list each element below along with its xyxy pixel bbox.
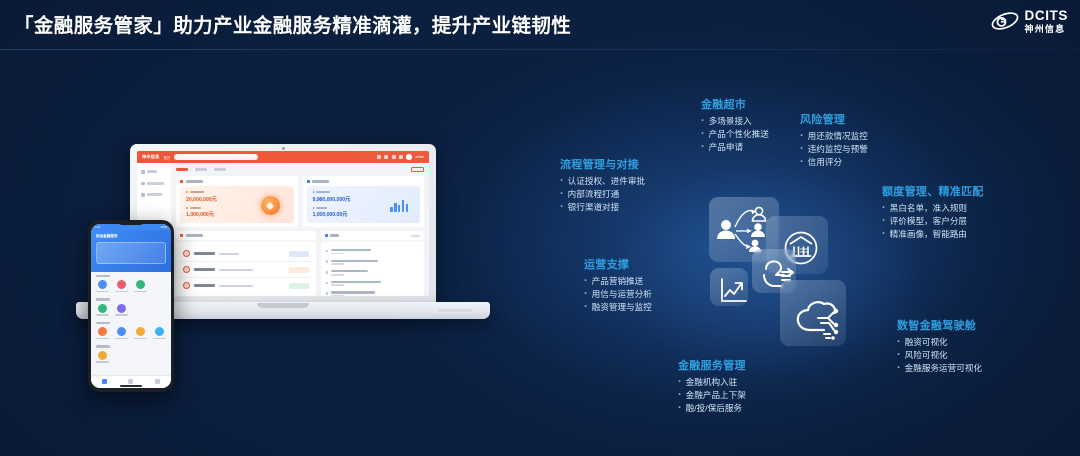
sidebar-item-2[interactable]	[141, 182, 167, 186]
phone-section-3	[91, 319, 171, 342]
callout-item: 精准画像，智能路由	[882, 228, 984, 241]
logo-text-group: DCITS 神州信息	[1025, 9, 1069, 34]
task-list-wrap	[176, 231, 316, 296]
stat-orange-panel: 20,000,000元 1,000,000元	[180, 186, 294, 223]
phone-app-label	[134, 338, 147, 340]
callout-title: 流程管理与对接	[560, 156, 645, 172]
bullet-dot	[186, 207, 188, 209]
news-header	[321, 231, 424, 240]
phone-app-item[interactable]	[115, 304, 128, 316]
phone-app-item[interactable]	[115, 327, 128, 339]
logo-chinese: 神州信息	[1025, 25, 1069, 34]
news-marker	[325, 234, 328, 237]
stat-card-row: 20,000,000元 1,000,000元	[176, 176, 424, 227]
callout-item: 用还款情况监控	[800, 130, 868, 143]
news-date	[331, 253, 344, 255]
callout-item: 金融服务运营可视化	[897, 362, 982, 375]
phone-app-icon	[117, 304, 126, 313]
callout-risk: 风险管理 用还款情况监控 违约监控与预警 信用评分	[800, 111, 868, 169]
tile-cloud-tech	[780, 280, 846, 346]
phone-hero-card[interactable]	[96, 242, 166, 264]
dashboard-search-input[interactable]	[174, 154, 258, 161]
news-feed-wrap	[321, 231, 424, 296]
news-item[interactable]	[326, 246, 419, 257]
task-row[interactable]	[180, 262, 312, 278]
phone-app-icon	[98, 351, 107, 360]
task-action-button[interactable]	[289, 283, 309, 289]
task-row[interactable]	[180, 278, 312, 293]
news-bullet	[326, 282, 329, 285]
callout-item: 信用评分	[800, 156, 868, 169]
sidebar-label-2	[147, 182, 164, 185]
callout-item: 用信与运营分析	[584, 288, 652, 301]
sidebar-label-1	[147, 170, 157, 173]
dcits-swoosh-icon	[990, 10, 1020, 32]
callout-operations: 运营支撑 产品营销推送 用信与运营分析 融资管理与监控	[584, 256, 652, 314]
sidebar-item-1[interactable]	[141, 170, 167, 174]
callout-title: 额度管理、精准匹配	[882, 183, 984, 199]
phone-app-item[interactable]	[96, 304, 109, 316]
phone-icon-grid-2	[96, 304, 166, 316]
task-action-button[interactable]	[289, 251, 309, 257]
callout-item: 认证授权、进件审批	[560, 175, 645, 188]
callout-item: 金融产品上下架	[678, 389, 746, 402]
phone-app-label	[134, 291, 147, 293]
growth-chart-icon	[715, 273, 753, 311]
news-date	[331, 284, 344, 286]
dashboard-nav: 首页	[164, 155, 171, 160]
bullet-dot	[186, 191, 188, 193]
icon-cluster	[700, 192, 850, 362]
phone-app-item[interactable]	[153, 327, 166, 339]
phone-app-item[interactable]	[115, 280, 128, 292]
phone-mockup: 9:41 100% 综合金融服务	[88, 220, 174, 392]
callout-title: 金融超市	[701, 96, 769, 112]
stat-card-orange-header	[180, 180, 294, 183]
page-title: 「金融服务管家」助力产业金融服务精准滴灌，提升产业链韧性	[14, 9, 571, 38]
bar-chart-decoration	[390, 198, 408, 212]
laptop-foot-right	[438, 309, 472, 312]
phone-app-item[interactable]	[96, 327, 109, 339]
news-text	[331, 291, 375, 293]
news-bullet	[326, 271, 329, 274]
task-list	[176, 242, 316, 296]
phone-icon-grid-3	[96, 327, 166, 339]
news-item[interactable]	[326, 289, 419, 296]
phone-app-item[interactable]	[96, 351, 109, 363]
dashboard-main: 20,000,000元 1,000,000元	[171, 163, 429, 296]
phone-app-label	[96, 338, 109, 340]
dashboard-body: 20,000,000元 1,000,000元	[137, 163, 429, 296]
phone-app-icon	[98, 304, 107, 313]
task-action-button[interactable]	[289, 267, 309, 273]
news-text	[331, 281, 381, 283]
dashboard-icon-4[interactable]	[399, 155, 403, 159]
callout-item: 评价模型，客户分层	[882, 215, 984, 228]
sidebar-item-3[interactable]	[141, 193, 167, 197]
task-row[interactable]	[180, 246, 312, 262]
task-list-header	[176, 231, 316, 240]
phone-app-icon	[98, 280, 107, 289]
stat-blue-marker	[307, 180, 310, 183]
bullet-dot	[313, 191, 315, 193]
news-text	[331, 270, 368, 272]
header-bar: 「金融服务管家」助力产业金融服务精准滴灌，提升产业链韧性 DCITS 神州信息	[0, 0, 1080, 49]
task-desc	[219, 253, 239, 255]
phone-app-item[interactable]	[134, 327, 147, 339]
dashboard-topbar-actions: admin	[377, 154, 424, 160]
dashboard-avatar[interactable]	[406, 154, 412, 160]
phone-section-1	[91, 272, 171, 295]
callout-item: 多场景接入	[701, 115, 769, 128]
phone-section-title-4	[96, 345, 110, 347]
dashboard-icon-1[interactable]	[377, 155, 381, 159]
phone-tab-home[interactable]	[102, 379, 107, 384]
phone-app-icon	[155, 327, 164, 336]
tile-growth-chart	[710, 268, 748, 306]
phone-app-label	[115, 314, 128, 316]
task-title	[186, 234, 203, 237]
stat-orange-marker	[180, 180, 183, 183]
laptop-screen: 神州信息 首页 admin	[137, 151, 429, 296]
phone-tab-service[interactable]	[128, 379, 133, 384]
callout-quota: 额度管理、精准匹配 黑白名单，准入规则 评价模型，客户分层 精准画像，智能路由	[882, 183, 984, 241]
tab-third[interactable]	[214, 168, 226, 171]
news-bullet	[326, 250, 329, 253]
phone-clock: 9:41	[95, 226, 100, 229]
callout-item: 违约监控与预警	[800, 143, 868, 156]
brand-logo: DCITS 神州信息	[990, 9, 1069, 34]
header-divider	[0, 49, 1080, 50]
phone-section-4	[91, 342, 171, 365]
stat-blue-label-1	[313, 191, 415, 193]
callout-item: 产品营销推送	[584, 275, 652, 288]
phone-app-label	[96, 291, 109, 293]
callout-item: 产品申请	[701, 141, 769, 154]
phone-section-title-3	[96, 322, 110, 324]
lower-panels	[176, 231, 424, 296]
task-header-inner	[180, 234, 312, 237]
sidebar-icon-3	[141, 193, 145, 197]
label-text	[190, 191, 204, 193]
phone-hero-title: 综合金融服务	[96, 234, 166, 239]
phone-battery: 100%	[160, 226, 167, 229]
task-marker	[180, 234, 183, 237]
news-item[interactable]	[326, 257, 419, 268]
stat-orange-label-1	[186, 191, 288, 193]
callout-item: 黑白名单，准入规则	[882, 202, 984, 215]
callout-item: 产品个性化推送	[701, 128, 769, 141]
callout-item: 金融机构入驻	[678, 376, 746, 389]
phone-section-title-2	[96, 298, 110, 300]
news-date	[331, 295, 344, 296]
phone-app-icon	[136, 280, 145, 289]
laptop-camera	[282, 147, 285, 150]
bullet-dot	[313, 207, 315, 209]
tab-overview[interactable]	[176, 168, 188, 171]
news-item[interactable]	[326, 268, 419, 279]
callout-supermarket: 金融超市 多场景接入 产品个性化推送 产品申请	[701, 96, 769, 154]
label-text	[190, 207, 201, 209]
phone-app-icon	[117, 280, 126, 289]
news-title	[330, 234, 339, 237]
stat-card-blue: 9,980,000,000元 1,000,000.00元	[303, 176, 425, 227]
phone-icon-grid-1	[96, 280, 166, 292]
phone-section-title-1	[96, 275, 110, 277]
task-status-icon	[183, 250, 190, 257]
dashboard-icon-2[interactable]	[384, 155, 388, 159]
dashboard-tabs	[176, 167, 424, 172]
news-more-link[interactable]	[411, 235, 420, 237]
dashboard-topbar: 神州信息 首页 admin	[137, 151, 429, 163]
task-name	[194, 284, 215, 287]
logo-english: DCITS	[1025, 9, 1069, 23]
news-item[interactable]	[326, 278, 419, 289]
phone-app-icon	[98, 327, 107, 336]
news-date	[331, 274, 344, 276]
dashboard-action-button[interactable]	[411, 167, 424, 172]
callout-title: 数智金融驾驶舱	[897, 317, 982, 333]
news-bullet	[326, 260, 329, 263]
phone-app-label	[96, 361, 109, 363]
phone-notch	[117, 220, 145, 225]
phone-hero-banner: 综合金融服务	[91, 230, 171, 272]
news-date	[331, 263, 344, 265]
task-name	[194, 252, 215, 255]
task-desc	[219, 285, 253, 287]
callout-title: 金融服务管理	[678, 357, 746, 373]
callout-item: 银行渠道对接	[560, 201, 645, 214]
news-bullet	[326, 292, 329, 295]
dashboard-brand: 神州信息	[142, 154, 160, 160]
dashboard-username: admin	[415, 155, 424, 159]
phone-app-icon	[117, 327, 126, 336]
phone-app-item[interactable]	[134, 280, 147, 292]
callout-title: 风险管理	[800, 111, 868, 127]
cloud-tech-icon	[788, 290, 854, 356]
phone-icon-grid-4	[96, 351, 166, 363]
stat-orange-title	[186, 180, 203, 183]
dashboard-icon-3[interactable]	[392, 155, 396, 159]
callout-process: 流程管理与对接 认证授权、进件审批 内部流程打通 银行渠道对接	[560, 156, 645, 214]
sidebar-icon-1	[141, 170, 145, 174]
callout-item: 风险可视化	[897, 349, 982, 362]
phone-screen: 9:41 100% 综合金融服务	[91, 224, 171, 388]
stat-card-blue-header	[307, 180, 421, 183]
phone-app-item[interactable]	[96, 280, 109, 292]
label-text	[316, 207, 327, 209]
task-status-icon	[183, 282, 190, 289]
sidebar-icon-2	[141, 182, 145, 186]
sidebar-label-3	[147, 193, 162, 196]
laptop-trackpad-notch	[257, 303, 309, 308]
task-name	[194, 268, 215, 271]
phone-app-label	[96, 314, 109, 316]
callout-title: 运营支撑	[584, 256, 652, 272]
phone-app-label	[115, 291, 128, 293]
news-text	[331, 249, 371, 251]
callout-financial-management: 金融服务管理 金融机构入驻 金融产品上下架 融/投/保后服务	[678, 357, 746, 415]
laptop-lid: 神州信息 首页 admin	[130, 144, 436, 304]
orange-orb-decoration	[261, 196, 280, 215]
callout-cockpit: 数智金融驾驶舱 融资可视化 风险可视化 金融服务运营可视化	[897, 317, 982, 375]
callout-item: 融/投/保后服务	[678, 402, 746, 415]
phone-app-icon	[136, 327, 145, 336]
device-mockups: 神州信息 首页 admin	[88, 140, 468, 365]
label-text	[316, 191, 330, 193]
laptop-mockup: 神州信息 首页 admin	[130, 144, 436, 319]
callout-item: 融资管理与监控	[584, 301, 652, 314]
tab-second[interactable]	[195, 168, 207, 171]
phone-home-indicator	[120, 385, 142, 387]
stat-blue-panel: 9,980,000,000元 1,000,000.00元	[307, 186, 421, 223]
phone-app-label	[153, 338, 166, 340]
stat-card-orange: 20,000,000元 1,000,000元	[176, 176, 298, 227]
callout-item: 融资可视化	[897, 336, 982, 349]
task-status-icon	[183, 266, 190, 273]
task-desc	[219, 269, 253, 271]
news-text	[331, 260, 378, 262]
phone-app-label	[115, 338, 128, 340]
phone-section-2	[91, 295, 171, 318]
callout-item: 内部流程打通	[560, 188, 645, 201]
stat-blue-title	[312, 180, 329, 183]
phone-tab-profile[interactable]	[155, 379, 160, 384]
news-list	[321, 242, 424, 296]
